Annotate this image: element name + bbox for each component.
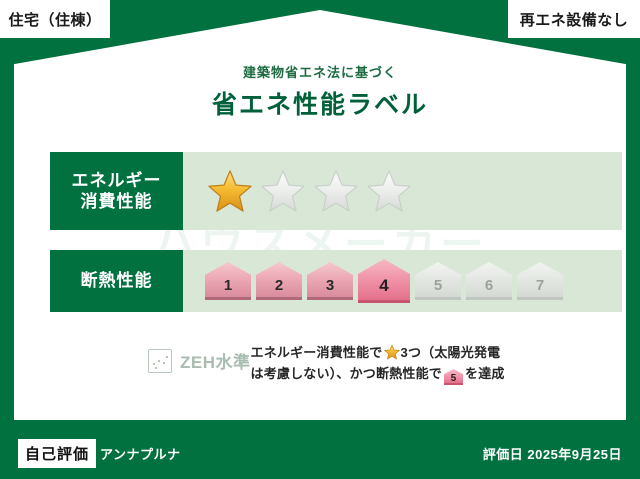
inline-star-icon (384, 344, 400, 360)
desc-line2-pre: は考慮しない）、かつ断熱性能で (251, 366, 443, 381)
building-type-tag: 住宅（住棟） (0, 0, 110, 38)
inline-grade-badge: 5 (444, 369, 463, 385)
zeh-square-icon (148, 349, 172, 373)
desc-line1-pre: エネルギー消費性能で (251, 345, 383, 360)
zeh-note-area: ZEH水準 エネルギー消費性能で3つ（太陽光発電 は考慮しない）、かつ断熱性能で… (50, 342, 622, 385)
evaluation-type-badge: 自己評価 (18, 439, 96, 468)
energy-performance-label: 住宅（住棟） 再エネ設備なし ハウスメーカー 建築物省エネ法に基づく 省エネ性能… (0, 0, 640, 479)
zeh-description: エネルギー消費性能で3つ（太陽光発電 は考慮しない）、かつ断熱性能で5を達成 (251, 342, 623, 385)
desc-line2-post: を達成 (465, 366, 505, 381)
grade-badge-6: 6 (466, 262, 512, 300)
renewable-energy-tag: 再エネ設備なし (508, 0, 640, 38)
evaluation-date: 評価日 2025年9月25日 (483, 444, 622, 463)
star-empty-icon (313, 169, 359, 213)
grade-badge-5: 5 (415, 262, 461, 300)
energy-performance-key: エネルギー 消費性能 (50, 152, 183, 230)
energy-performance-row: エネルギー 消費性能 (50, 152, 622, 230)
energy-key-line1: エネルギー (72, 170, 162, 191)
grade-badge-7: 7 (517, 262, 563, 300)
insulation-key-line1: 断熱性能 (81, 270, 153, 291)
evaluator-name: アンナプルナ (100, 444, 180, 463)
zeh-indicator: ZEH水準 (50, 342, 251, 373)
title-main: 省エネ性能ラベル (14, 85, 626, 121)
insulation-grade-scale: 1 2 3 4 5 6 7 (183, 250, 622, 312)
desc-line1-post: 3つ（太陽光発電 (401, 345, 501, 360)
insulation-performance-row: 断熱性能 1 2 3 4 5 6 7 (50, 250, 622, 312)
grade-badge-2: 2 (256, 262, 302, 300)
insulation-performance-key: 断熱性能 (50, 250, 183, 312)
label-title-block: 建築物省エネ法に基づく 省エネ性能ラベル (14, 62, 626, 121)
grade-badge-4-current: 4 (358, 259, 410, 303)
grade-badge-3: 3 (307, 262, 353, 300)
label-footer: 自己評価 アンナプルナ 評価日 2025年9月25日 (0, 427, 640, 479)
star-empty-icon (366, 169, 412, 213)
star-filled-icon (207, 169, 253, 213)
star-empty-icon (260, 169, 306, 213)
house-panel: ハウスメーカー 建築物省エネ法に基づく 省エネ性能ラベル エネルギー 消費性能 (14, 10, 626, 420)
title-subtitle: 建築物省エネ法に基づく (14, 62, 626, 81)
grade-badge-1: 1 (205, 262, 251, 300)
zeh-label: ZEH水準 (180, 348, 251, 373)
energy-star-rating (183, 152, 622, 230)
energy-key-line2: 消費性能 (81, 191, 153, 212)
